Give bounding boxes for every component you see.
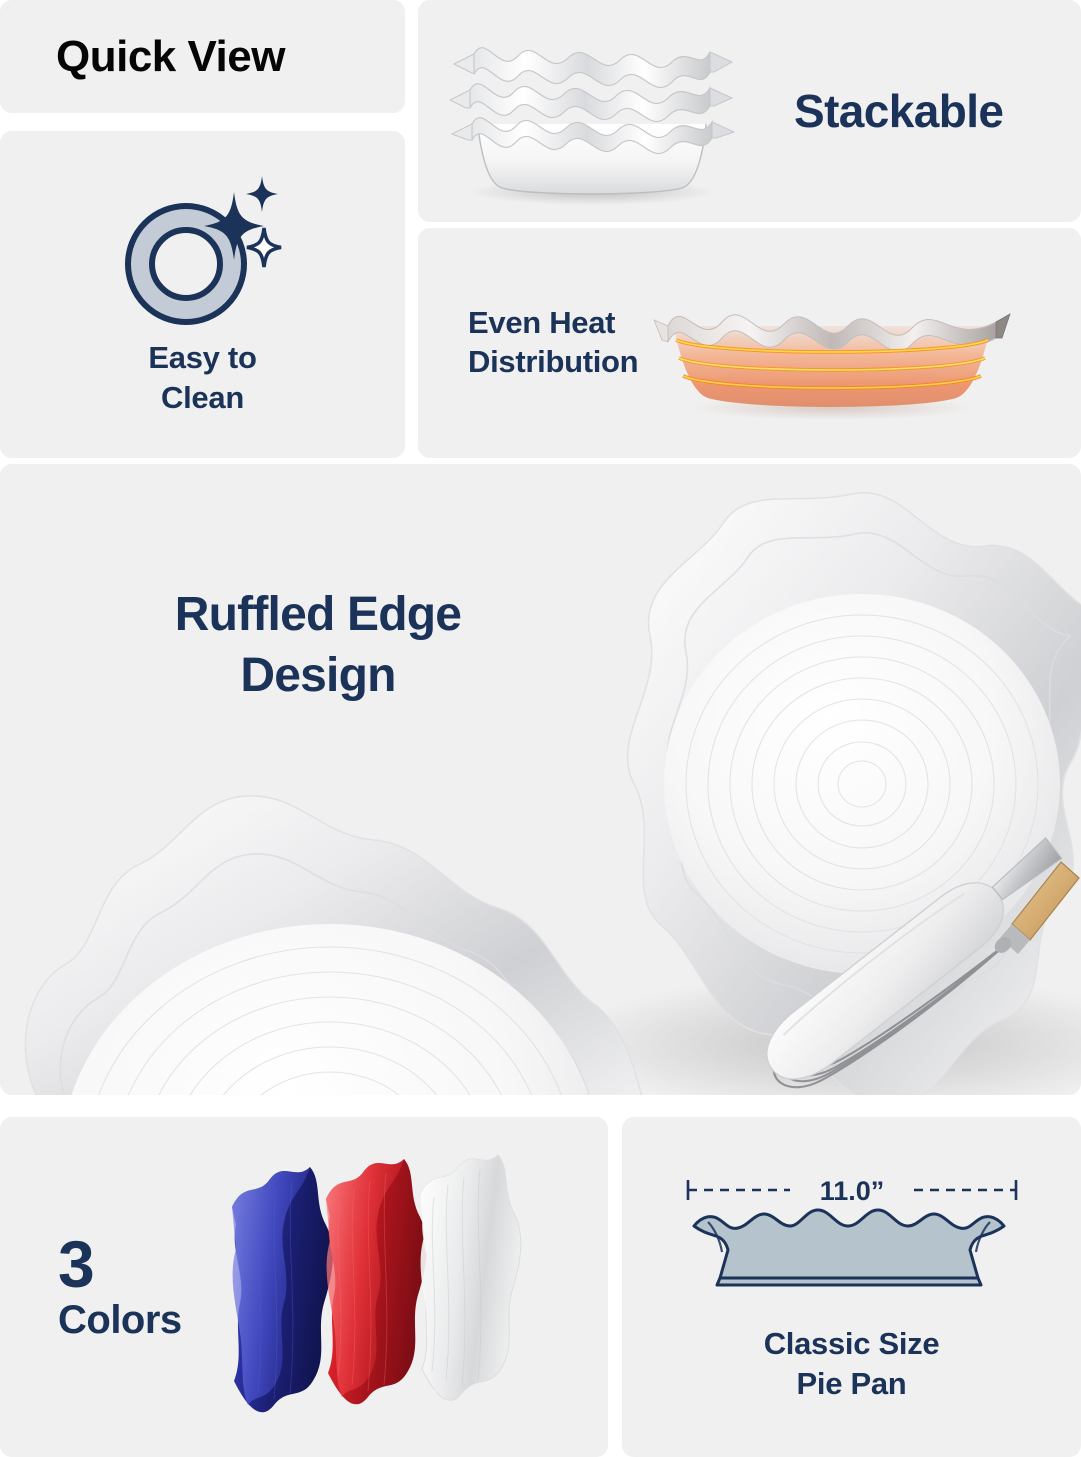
stackable-label: Stackable <box>794 84 1003 138</box>
ruffled-edge-design-panel: Ruffled Edge Design <box>0 464 1081 1095</box>
even-heat-distribution-panel: Even Heat Distribution <box>418 228 1081 458</box>
classic-size-label: Classic Size Pie Pan <box>764 1324 940 1403</box>
three-colors-panel: 3 Colors <box>0 1117 608 1457</box>
sparkle-ring-icon <box>108 166 298 334</box>
color-variants-image <box>214 1137 554 1437</box>
easy-to-clean-label-line2: Clean <box>161 380 244 415</box>
color-swatch-red <box>326 1159 427 1404</box>
colors-label-group: 3 Colors <box>58 1231 182 1343</box>
heat-content: Even Heat Distribution <box>418 228 1081 458</box>
stackable-panel: Stackable <box>418 0 1081 222</box>
ruffled-title-line1: Ruffled Edge <box>175 588 461 641</box>
easy-to-clean-content: Easy to Clean <box>0 131 405 458</box>
heat-label-line2: Distribution <box>468 344 638 379</box>
colors-content: 3 Colors <box>0 1117 608 1457</box>
page-title: Quick View <box>56 32 285 82</box>
size-label-line1: Classic Size <box>764 1326 940 1361</box>
pie-pan-cross-section-diagram: 11.0” <box>682 1170 1022 1300</box>
heat-label-line1: Even Heat <box>468 305 615 340</box>
ruffled-edge-hero-image <box>0 464 1081 1095</box>
quick-view-panel: Quick View <box>0 0 405 113</box>
color-swatch-white <box>420 1155 521 1400</box>
sparkle-small-icon <box>246 176 278 212</box>
classic-size-panel: 11.0” Classic Size Pie Pan <box>622 1117 1081 1457</box>
colors-count: 3 <box>58 1231 182 1297</box>
ruffled-title-line2: Design <box>240 649 395 702</box>
easy-to-clean-label-line1: Easy to <box>148 340 256 375</box>
color-swatch-blue <box>232 1167 333 1412</box>
size-content: 11.0” Classic Size Pie Pan <box>622 1117 1081 1457</box>
colors-word: Colors <box>58 1297 182 1343</box>
dimension-value: 11.0” <box>819 1176 884 1206</box>
even-heat-label: Even Heat Distribution <box>468 304 638 382</box>
ruffled-edge-title: Ruffled Edge Design <box>118 584 518 707</box>
easy-to-clean-label: Easy to Clean <box>148 338 256 417</box>
heat-distribution-image <box>652 248 1012 438</box>
size-label-line2: Pie Pan <box>797 1366 907 1401</box>
stacked-pie-pans-image <box>420 6 760 216</box>
infographic-page: Quick View Easy to Clean <box>0 0 1081 1457</box>
easy-to-clean-panel: Easy to Clean <box>0 131 405 458</box>
stackable-content: Stackable <box>418 0 1081 222</box>
sparkle-outline-icon <box>247 228 281 267</box>
